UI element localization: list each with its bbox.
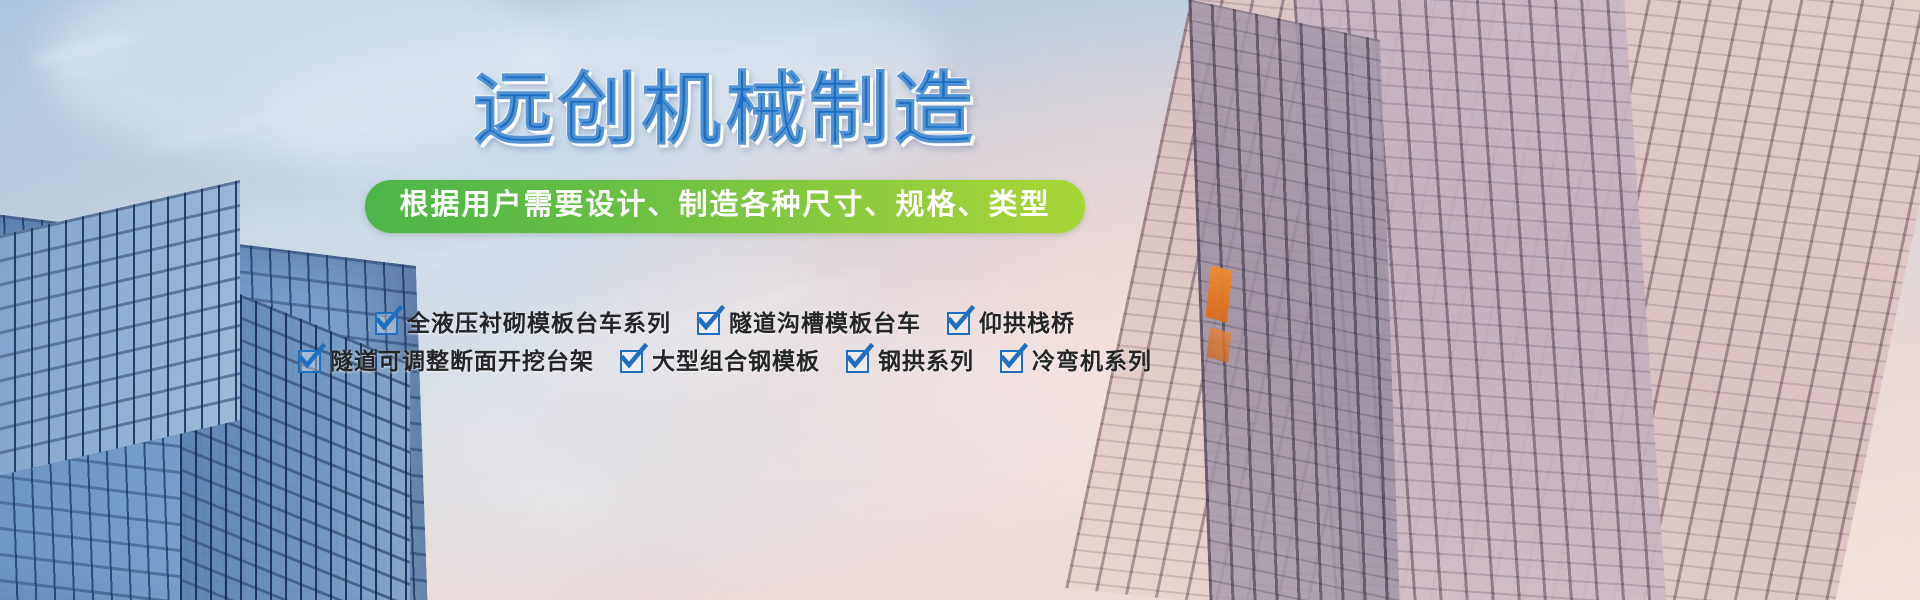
feature-list: 全液压衬砌模板台车系列隧道沟槽模板台车仰拱栈桥 隧道可调整断面开挖台架大型组合钢… bbox=[0, 310, 1920, 385]
promo-banner: 远创机械制造 根据用户需要设计、制造各种尺寸、规格、类型 全液压衬砌模板台车系列… bbox=[0, 0, 1920, 600]
banner-title: 远创机械制造 bbox=[0, 70, 1920, 150]
banner-title-text: 远创机械制造 bbox=[473, 65, 977, 154]
feature-item-label: 冷弯机系列 bbox=[1032, 348, 1152, 376]
banner-subtitle-pill: 根据用户需要设计、制造各种尺寸、规格、类型 bbox=[365, 180, 1084, 233]
feature-item-label: 大型组合钢模板 bbox=[652, 348, 820, 376]
feature-item-label: 钢拱系列 bbox=[878, 348, 974, 376]
checkbox-checked-icon bbox=[697, 312, 720, 335]
feature-item[interactable]: 全液压衬砌模板台车系列 bbox=[375, 310, 671, 338]
banner-subtitle-wrap: 根据用户需要设计、制造各种尺寸、规格、类型 bbox=[0, 180, 1920, 233]
checkbox-checked-icon bbox=[375, 312, 398, 335]
feature-row: 隧道可调整断面开挖台架大型组合钢模板钢拱系列冷弯机系列 bbox=[0, 348, 1685, 376]
feature-item-label: 隧道沟槽模板台车 bbox=[729, 310, 921, 338]
feature-item[interactable]: 大型组合钢模板 bbox=[620, 348, 820, 376]
feature-item[interactable]: 隧道沟槽模板台车 bbox=[697, 310, 921, 338]
checkbox-checked-icon bbox=[947, 312, 970, 335]
checkbox-checked-icon bbox=[846, 350, 869, 373]
checkbox-checked-icon bbox=[1000, 350, 1023, 373]
feature-item-label: 全液压衬砌模板台车系列 bbox=[407, 310, 671, 338]
banner-subtitle-shift: 根据用户需要设计、制造各种尺寸、规格、类型 bbox=[365, 180, 1084, 233]
banner-content: 远创机械制造 根据用户需要设计、制造各种尺寸、规格、类型 全液压衬砌模板台车系列… bbox=[0, 0, 1920, 600]
feature-item[interactable]: 钢拱系列 bbox=[846, 348, 974, 376]
feature-item[interactable]: 冷弯机系列 bbox=[1000, 348, 1152, 376]
feature-item[interactable]: 隧道可调整断面开挖台架 bbox=[298, 348, 594, 376]
feature-item-label: 隧道可调整断面开挖台架 bbox=[330, 348, 594, 376]
feature-item-label: 仰拱栈桥 bbox=[979, 310, 1075, 338]
feature-row: 全液压衬砌模板台车系列隧道沟槽模板台车仰拱栈桥 bbox=[0, 310, 1685, 338]
checkbox-checked-icon bbox=[298, 350, 321, 373]
checkbox-checked-icon bbox=[620, 350, 643, 373]
feature-item[interactable]: 仰拱栈桥 bbox=[947, 310, 1075, 338]
